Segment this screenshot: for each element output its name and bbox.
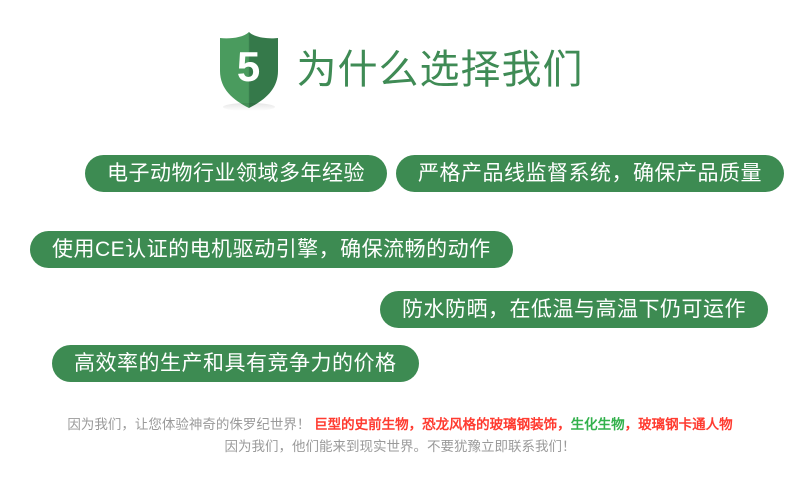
footer-line1-intro: 因为我们，让您体验神奇的侏罗纪世界！ bbox=[67, 417, 314, 432]
page-title: 为什么选择我们 bbox=[297, 50, 584, 90]
shield-icon: 5 bbox=[217, 31, 281, 109]
feature-pill-weatherproof[interactable]: 防水防晒，在低温与高温下仍可运作 bbox=[380, 291, 768, 328]
promo-banner: 5 为什么选择我们 电子动物行业领域多年经验 严格产品线监督系统，确保产品质量 … bbox=[0, 0, 800, 485]
footer-line-2: 因为我们，他们能来到现实世界。不要犹豫立即联系我们！ bbox=[0, 436, 800, 458]
feature-pill-experience[interactable]: 电子动物行业领域多年经验 bbox=[85, 155, 387, 192]
feature-pill-quality-control[interactable]: 严格产品线监督系统，确保产品质量 bbox=[396, 155, 784, 192]
footer-line1-highlight: 巨型的史前生物，恐龙风格的玻璃钢装饰， bbox=[314, 417, 571, 432]
badge-number: 5 bbox=[217, 31, 281, 109]
feature-pill-ce-motor[interactable]: 使用CE认证的电机驱动引擎，确保流畅的动作 bbox=[30, 231, 513, 268]
footer-line-1: 因为我们，让您体验神奇的侏罗纪世界！ 巨型的史前生物，恐龙风格的玻璃钢装饰，生化… bbox=[0, 414, 800, 436]
footer-line1-tail: ，玻璃钢卡通人物 bbox=[625, 417, 733, 432]
header: 5 为什么选择我们 bbox=[0, 22, 800, 118]
footer: 因为我们，让您体验神奇的侏罗纪世界！ 巨型的史前生物，恐龙风格的玻璃钢装饰，生化… bbox=[0, 414, 800, 458]
footer-line1-accent: 生化生物 bbox=[571, 417, 625, 432]
feature-pill-price[interactable]: 高效率的生产和具有竞争力的价格 bbox=[52, 345, 419, 382]
